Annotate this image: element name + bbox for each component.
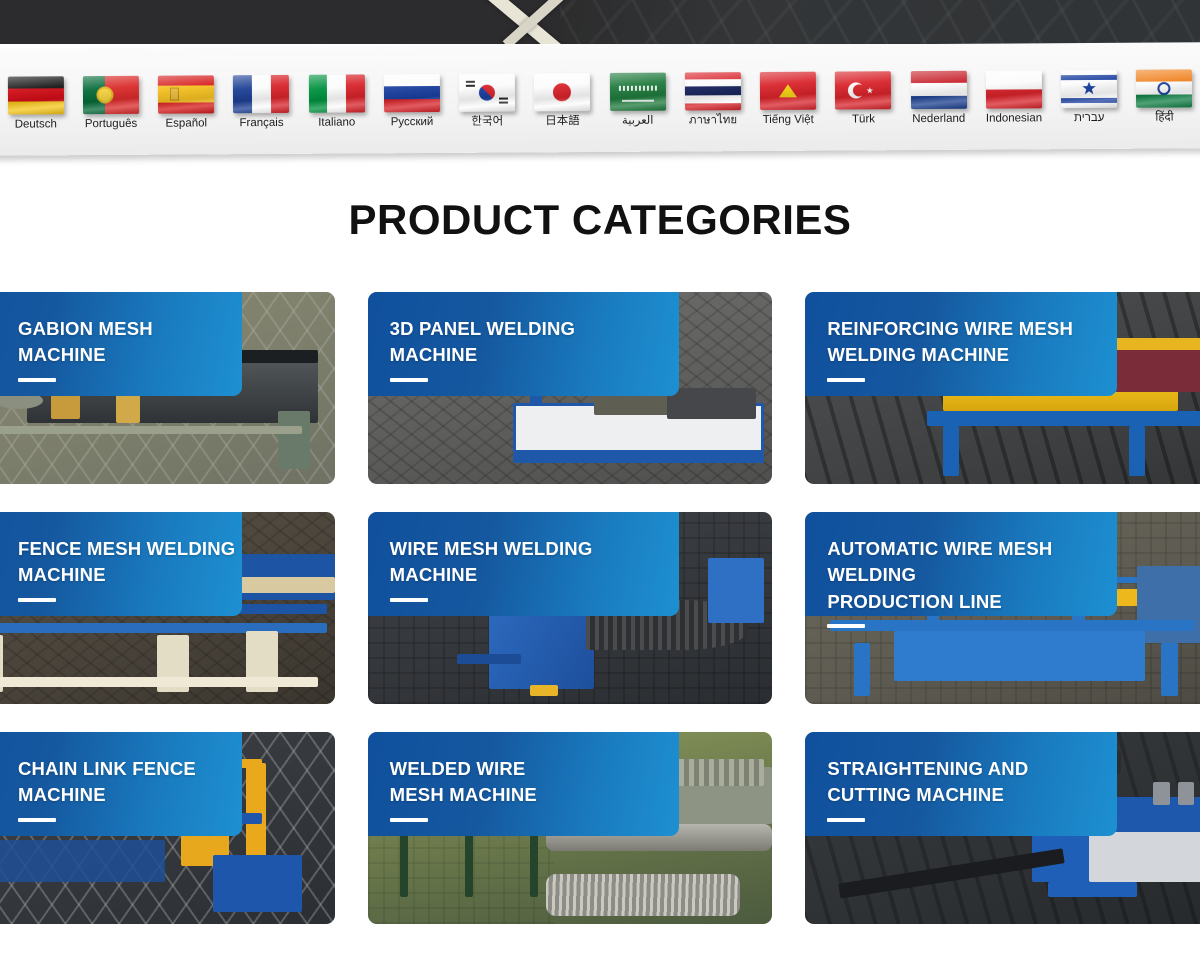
- category-card-title: WELDED WIRE MESH MACHINE: [390, 756, 680, 809]
- language-option-label: Italiano: [318, 116, 355, 129]
- language-option-label: Tiếng Việt: [763, 113, 814, 126]
- netherlands-flag-icon: [910, 70, 966, 108]
- category-card-title: GABION MESH MACHINE: [18, 316, 242, 369]
- poland-flag-icon: [986, 70, 1042, 108]
- category-card[interactable]: STRAIGHTENING AND CUTTING MACHINE: [805, 732, 1200, 924]
- france-flag-icon: [233, 75, 289, 113]
- language-option-label: 日本語: [545, 115, 580, 128]
- germany-flag-icon: [7, 76, 63, 114]
- language-option-russia[interactable]: Русский: [374, 47, 450, 153]
- language-option-label: हिंदी: [1155, 111, 1173, 124]
- category-card-underline: [827, 624, 865, 628]
- language-option-israel[interactable]: עברית: [1051, 43, 1127, 149]
- language-option-label: עברית: [1074, 112, 1104, 125]
- japan-flag-icon: [534, 73, 590, 111]
- page-title: PRODUCT CATEGORIES: [0, 196, 1200, 244]
- category-card-title: FENCE MESH WELDING MACHINE: [18, 536, 242, 589]
- language-option-label: 한국어: [471, 115, 503, 128]
- saudi-arabia-flag-icon: [609, 72, 665, 110]
- language-option-label: Français: [239, 117, 283, 130]
- category-card-title: WIRE MESH WELDING MACHINE: [390, 536, 680, 589]
- turkey-flag-icon: [835, 71, 891, 109]
- language-selector-bar: Deutsch Português EspañolFrançaisItalian…: [0, 44, 1200, 162]
- category-card-underline: [18, 818, 56, 822]
- language-option-france[interactable]: Français: [223, 48, 299, 154]
- language-option-label: Русский: [391, 116, 434, 129]
- language-option-label: Español: [165, 117, 207, 130]
- language-option-saudi-arabia[interactable]: العربية: [600, 46, 676, 152]
- top-banner-image: [0, 0, 1200, 44]
- category-card[interactable]: WIRE MESH WELDING MACHINE: [368, 512, 773, 704]
- language-option-germany[interactable]: Deutsch: [0, 49, 74, 155]
- language-option-turkey[interactable]: Türk: [825, 44, 901, 150]
- category-card-header: CHAIN LINK FENCE MACHINE: [0, 732, 242, 836]
- language-option-thailand[interactable]: ภาษาไทย: [675, 45, 751, 151]
- category-card[interactable]: AUTOMATIC WIRE MESH WELDING PRODUCTION L…: [805, 512, 1200, 704]
- category-card-underline: [827, 378, 865, 382]
- category-card-underline: [390, 378, 428, 382]
- category-card-underline: [827, 818, 865, 822]
- category-card-title: CHAIN LINK FENCE MACHINE: [18, 756, 242, 809]
- category-card[interactable]: GABION MESH MACHINE: [0, 292, 335, 484]
- category-card-title: 3D PANEL WELDING MACHINE: [390, 316, 680, 369]
- language-option-portugal[interactable]: Português: [73, 49, 149, 155]
- portugal-flag-icon: [83, 75, 139, 113]
- language-option-label: Türk: [852, 113, 875, 126]
- category-card-title: AUTOMATIC WIRE MESH WELDING PRODUCTION L…: [827, 536, 1117, 615]
- category-card-underline: [18, 598, 56, 602]
- language-option-label: Nederland: [912, 112, 965, 125]
- category-card-header: 3D PANEL WELDING MACHINE: [368, 292, 680, 396]
- thailand-flag-icon: [685, 72, 741, 110]
- category-card-title: REINFORCING WIRE MESH WELDING MACHINE: [827, 316, 1117, 369]
- category-card[interactable]: WELDED WIRE MESH MACHINE: [368, 732, 773, 924]
- category-card-header: GABION MESH MACHINE: [0, 292, 242, 396]
- category-card-header: WELDED WIRE MESH MACHINE: [368, 732, 680, 836]
- product-categories-grid: GABION MESH MACHINE 3D PANEL WELDING MAC…: [0, 292, 1200, 924]
- israel-flag-icon: [1061, 70, 1117, 108]
- language-option-label: Deutsch: [15, 118, 57, 131]
- category-card-header: AUTOMATIC WIRE MESH WELDING PRODUCTION L…: [805, 512, 1117, 616]
- language-option-label: ภาษาไทย: [689, 114, 737, 127]
- language-bar-strip: Deutsch Português EspañolFrançaisItalian…: [0, 42, 1200, 155]
- language-option-label: Português: [85, 117, 138, 130]
- category-card-header: STRAIGHTENING AND CUTTING MACHINE: [805, 732, 1117, 836]
- india-flag-icon: [1136, 69, 1192, 107]
- category-card-underline: [390, 818, 428, 822]
- category-card[interactable]: 3D PANEL WELDING MACHINE: [368, 292, 773, 484]
- spain-flag-icon: [158, 75, 214, 113]
- category-card-underline: [390, 598, 428, 602]
- language-option-label: العربية: [622, 114, 654, 127]
- category-card[interactable]: CHAIN LINK FENCE MACHINE: [0, 732, 335, 924]
- category-card[interactable]: FENCE MESH WELDING MACHINE: [0, 512, 335, 704]
- category-card-header: REINFORCING WIRE MESH WELDING MACHINE: [805, 292, 1117, 396]
- category-card-title: STRAIGHTENING AND CUTTING MACHINE: [827, 756, 1117, 809]
- language-option-label: Indonesian: [986, 112, 1042, 125]
- south-korea-flag-icon: [459, 73, 515, 111]
- language-option-india[interactable]: हिंदी: [1126, 42, 1200, 148]
- vietnam-flag-icon: [760, 71, 816, 109]
- language-option-netherlands[interactable]: Nederland: [901, 44, 977, 150]
- banner-dark-wedge: [0, 0, 560, 44]
- language-option-italy[interactable]: Italiano: [299, 47, 375, 153]
- language-option-poland[interactable]: Indonesian: [976, 43, 1052, 149]
- russia-flag-icon: [384, 74, 440, 112]
- category-card[interactable]: REINFORCING WIRE MESH WELDING MACHINE: [805, 292, 1200, 484]
- category-card-header: FENCE MESH WELDING MACHINE: [0, 512, 242, 616]
- language-option-vietnam[interactable]: Tiếng Việt: [750, 45, 826, 151]
- language-option-japan[interactable]: 日本語: [524, 46, 600, 152]
- language-option-south-korea[interactable]: 한국어: [449, 46, 525, 152]
- category-card-header: WIRE MESH WELDING MACHINE: [368, 512, 680, 616]
- italy-flag-icon: [308, 74, 364, 112]
- language-option-spain[interactable]: Español: [148, 48, 224, 154]
- category-card-underline: [18, 378, 56, 382]
